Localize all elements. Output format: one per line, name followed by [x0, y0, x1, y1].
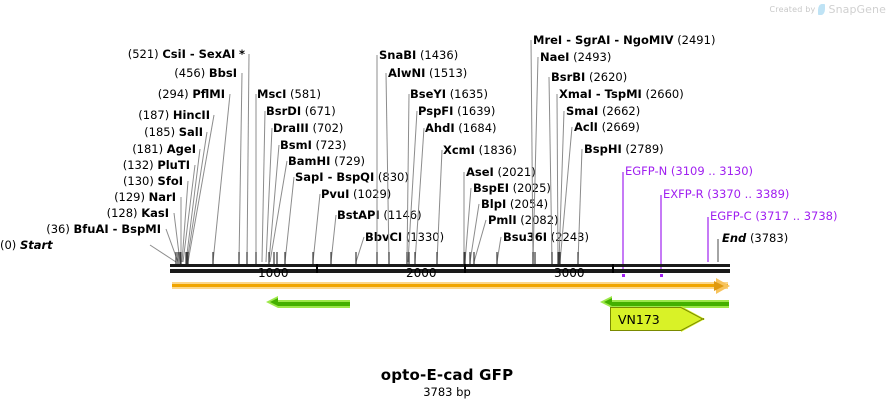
primer-arrow-left-head [270, 298, 278, 306]
gene-arrow-vn173-label: VN173 [618, 312, 660, 327]
leader-lines-group [0, 0, 894, 406]
primer-arrow-left-body[interactable] [278, 300, 350, 308]
primer-arrow-right-head [604, 298, 612, 306]
orf-arrow-head [714, 281, 724, 291]
map-title: opto-E-cad GFP [0, 366, 894, 384]
orf-arrow-body[interactable] [172, 282, 728, 289]
map-length: 3783 bp [0, 385, 894, 399]
